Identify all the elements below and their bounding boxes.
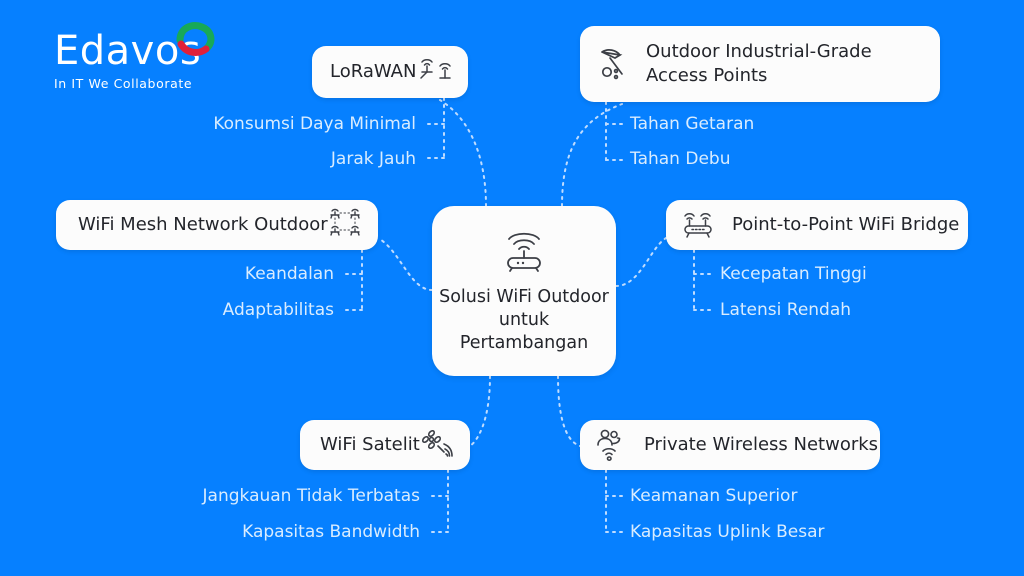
brand-name: Edavos	[54, 28, 254, 74]
node-mesh[interactable]: WiFi Mesh Network Outdoor	[56, 200, 378, 250]
brand-tagline: In IT We Collaborate	[54, 76, 254, 91]
node-private-wireless-label: Private Wireless Networks	[644, 433, 878, 457]
mesh-network-icon	[328, 207, 366, 243]
subitem-private-1: Keamanan Superior	[630, 485, 797, 507]
node-p2p-bridge[interactable]: Point-to-Point WiFi Bridge	[666, 200, 968, 250]
subitem-mesh-1: Keandalan	[40, 263, 334, 285]
subitem-mesh-2: Adaptabilitas	[40, 299, 334, 321]
node-private-wireless[interactable]: Private Wireless Networks	[580, 420, 880, 470]
subitem-p2p-2: Latensi Rendah	[720, 299, 851, 321]
connector-center-satelit	[470, 376, 490, 446]
center-node[interactable]: Solusi WiFi Outdoor untuk Pertambangan	[432, 206, 616, 376]
satellite-icon	[420, 428, 460, 462]
connector-center-p2p	[616, 238, 666, 286]
subitem-p2p-1: Kecepatan Tinggi	[720, 263, 867, 285]
brand-logo: Edavos In IT We Collaborate	[54, 28, 254, 91]
subitem-lorawan-2: Jarak Jauh	[120, 148, 416, 170]
connector-center-outdoor	[562, 104, 622, 206]
node-satelit-label: WiFi Satelit	[320, 433, 420, 457]
subitem-outdoor-ap-2: Tahan Debu	[630, 148, 730, 170]
center-label: Solusi WiFi Outdoor untuk Pertambangan	[432, 286, 616, 355]
wifi-bridge-router-icon	[680, 209, 720, 241]
subitem-satelit-2: Kapasitas Bandwidth	[110, 521, 420, 543]
connector-center-mesh	[378, 238, 432, 290]
edavos-swoosh-icon	[172, 20, 222, 60]
node-lorawan-label: LoRaWAN	[330, 60, 416, 84]
mindmap-canvas: Edavos In IT We Collaborate Solusi WiFi …	[0, 0, 1024, 576]
lorawan-antenna-icon	[416, 56, 456, 88]
node-p2p-bridge-label: Point-to-Point WiFi Bridge	[732, 213, 959, 237]
connector-center-private	[558, 376, 580, 446]
node-mesh-label: WiFi Mesh Network Outdoor	[78, 213, 328, 237]
subitem-private-2: Kapasitas Uplink Besar	[630, 521, 825, 543]
subitem-lorawan-1: Konsumsi Daya Minimal	[120, 113, 416, 135]
node-lorawan[interactable]: LoRaWAN	[312, 46, 468, 98]
subitem-satelit-1: Jangkauan Tidak Terbatas	[110, 485, 420, 507]
connector-center-lorawan	[440, 100, 486, 206]
subitem-outdoor-ap-1: Tahan Getaran	[630, 113, 754, 135]
wifi-router-icon	[496, 227, 552, 278]
node-outdoor-ap[interactable]: Outdoor Industrial-Grade Access Points	[580, 26, 940, 102]
pickaxe-mining-icon	[594, 44, 634, 84]
node-satelit[interactable]: WiFi Satelit	[300, 420, 470, 470]
node-outdoor-ap-label: Outdoor Industrial-Grade Access Points	[646, 40, 924, 88]
users-wifi-icon	[594, 427, 632, 463]
